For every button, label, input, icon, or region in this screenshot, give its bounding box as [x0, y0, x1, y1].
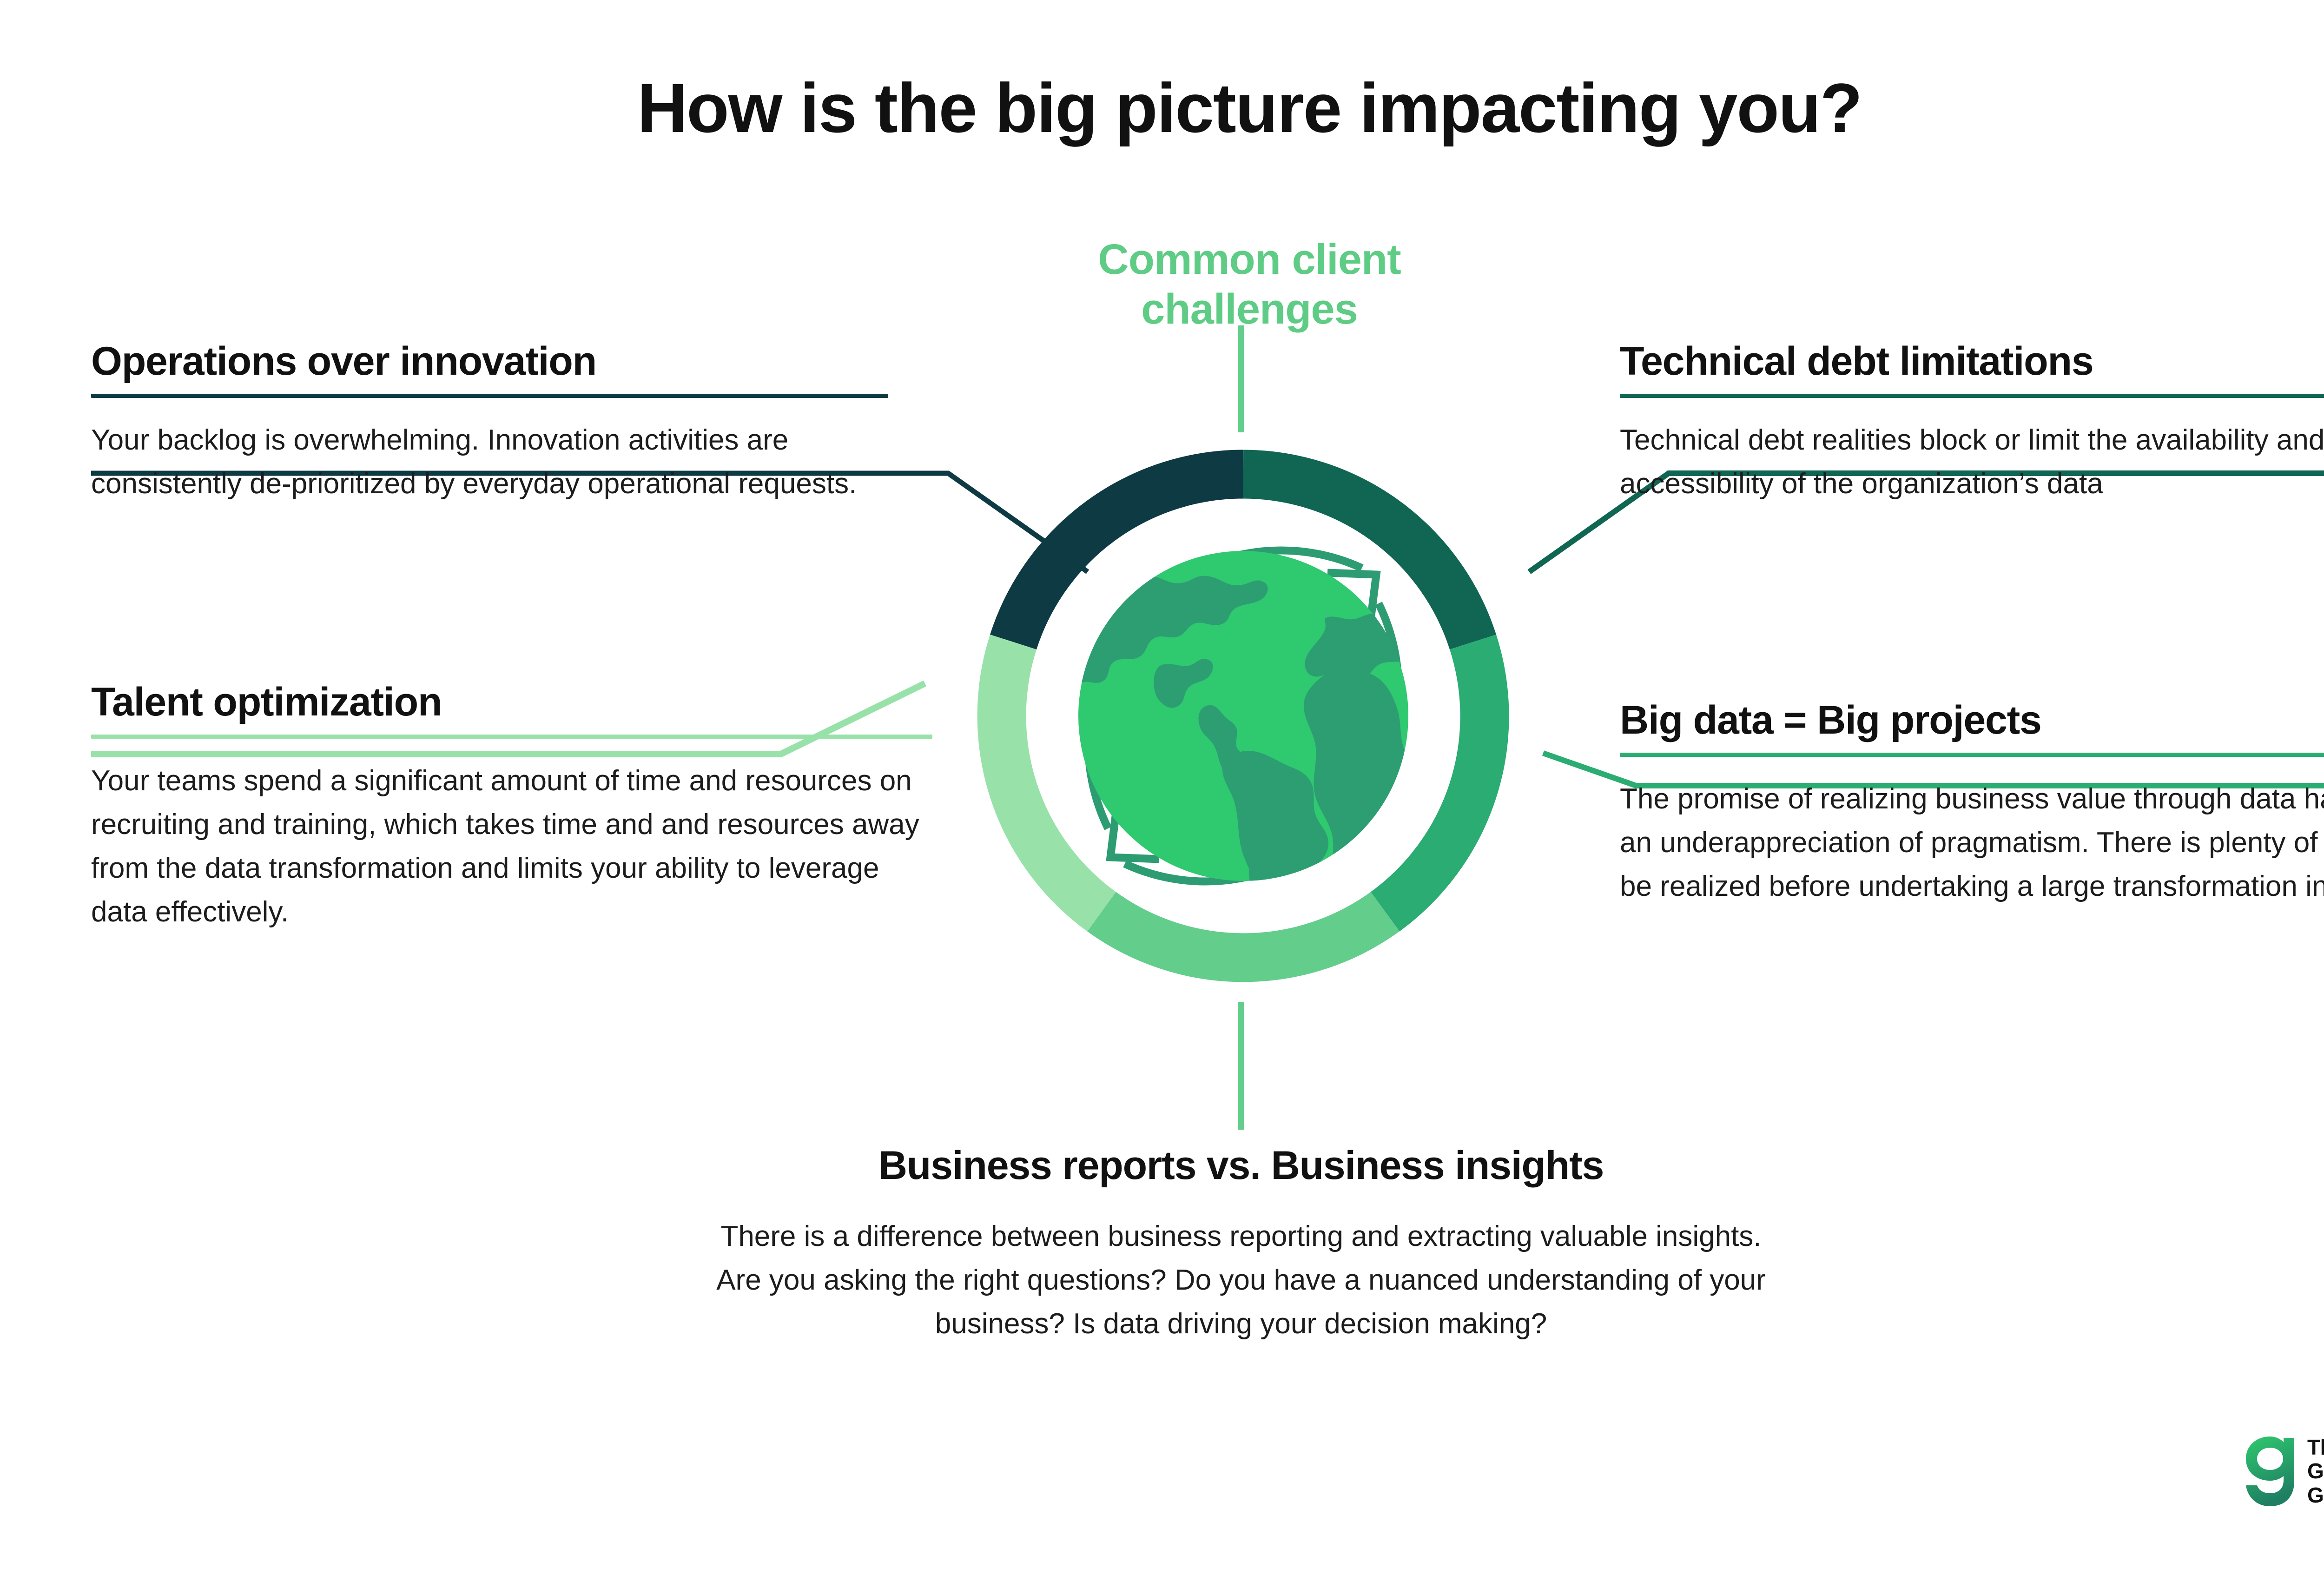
logo-line-2: Gunter: [2307, 1459, 2324, 1483]
block-title: Talent optimization: [91, 680, 932, 724]
block-body: There is a difference between business r…: [706, 1215, 1776, 1346]
block-rule: [91, 735, 932, 739]
block-technical-debt-limitations: Technical debt limitations Technical deb…: [1620, 339, 2324, 506]
block-title: Operations over innovation: [91, 339, 888, 384]
block-big-data-big-projects: Big data = Big projects The promise of r…: [1620, 698, 2324, 908]
center-label: Common client challenges: [1017, 235, 1482, 334]
block-operations-over-innovation: Operations over innovation Your backlog …: [91, 339, 888, 506]
block-body: Technical debt realities block or limit …: [1620, 418, 2324, 506]
block-title: Business reports vs. Business insights: [706, 1144, 1776, 1188]
logo-line-1: The: [2307, 1436, 2324, 1460]
logo-line-3-text: Group: [2307, 1483, 2324, 1507]
block-title: Technical debt limitations: [1620, 339, 2324, 384]
block-body: Your backlog is overwhelming. Innovation…: [91, 418, 888, 506]
block-body: Your teams spend a significant amount of…: [91, 759, 932, 934]
logo-line-3: Group™: [2307, 1483, 2324, 1508]
block-body: The promise of realizing business value …: [1620, 777, 2324, 909]
gunter-g-icon: [2245, 1437, 2295, 1506]
center-label-line1: Common client: [1017, 235, 1482, 285]
center-label-line2: challenges: [1017, 285, 1482, 334]
block-talent-optimization: Talent optimization Your teams spend a s…: [91, 680, 932, 934]
block-rule: [91, 394, 888, 398]
block-business-reports-vs-business-insights: Business reports vs. Business insights T…: [706, 1144, 1776, 1346]
donut-segment-reports: [1102, 912, 1385, 958]
company-logo: The Gunter Group™: [2245, 1420, 2324, 1523]
block-rule: [1620, 394, 2324, 398]
block-title: Big data = Big projects: [1620, 698, 2324, 742]
block-rule: [1620, 753, 2324, 757]
infographic-page: How is the big picture impacting you?: [0, 0, 2324, 1589]
logo-wordmark: The Gunter Group™: [2307, 1436, 2324, 1508]
